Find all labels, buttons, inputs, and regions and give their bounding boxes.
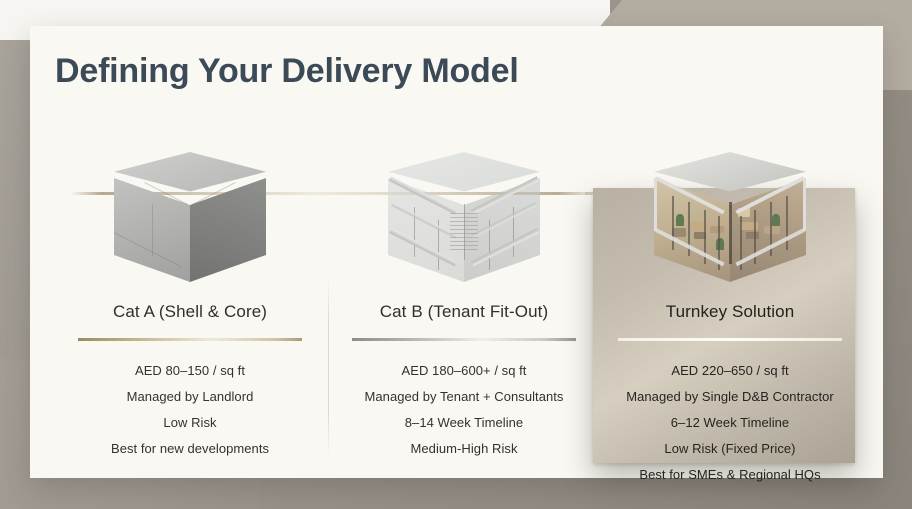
slide-panel: Defining Your Delivery Model: [30, 26, 883, 478]
furnished-office-cube-icon: [654, 152, 806, 282]
bullet-item: 6–12 Week Timeline: [596, 410, 864, 436]
bullet-item: Low Risk (Fixed Price): [596, 436, 864, 462]
column-divider: [352, 338, 576, 341]
bullet-item: Best for SMEs & Regional HQs: [596, 462, 864, 488]
bullet-item: Managed by Landlord: [56, 384, 324, 410]
column-divider: [78, 338, 302, 341]
bullet-item: AED 80–150 / sq ft: [56, 358, 324, 384]
figure-cat-b: [330, 152, 598, 282]
bullet-item: Medium-High Risk: [330, 436, 598, 462]
column-heading: Cat A (Shell & Core): [56, 302, 324, 322]
column-divider: [618, 338, 842, 341]
columns-container: Cat A (Shell & Core) AED 80–150 / sq ft …: [30, 26, 883, 478]
bullet-item: AED 220–650 / sq ft: [596, 358, 864, 384]
column-bullets: AED 220–650 / sq ft Managed by Single D&…: [596, 358, 864, 488]
bullet-item: Managed by Single D&B Contractor: [596, 384, 864, 410]
bullet-item: Managed by Tenant + Consultants: [330, 384, 598, 410]
bullet-item: Best for new developments: [56, 436, 324, 462]
bullet-item: AED 180–600+ / sq ft: [330, 358, 598, 384]
column-heading: Turnkey Solution: [596, 302, 864, 322]
slide-canvas: Defining Your Delivery Model: [0, 0, 912, 509]
column-separator-1: [328, 278, 329, 456]
glass-frame-cube-icon: [388, 152, 540, 282]
figure-cat-a: [56, 152, 324, 282]
column-heading: Cat B (Tenant Fit-Out): [330, 302, 598, 322]
figure-turnkey: [596, 152, 864, 282]
concrete-cube-icon: [114, 152, 266, 282]
column-bullets: AED 80–150 / sq ft Managed by Landlord L…: [56, 358, 324, 462]
bullet-item: 8–14 Week Timeline: [330, 410, 598, 436]
column-bullets: AED 180–600+ / sq ft Managed by Tenant +…: [330, 358, 598, 462]
bullet-item: Low Risk: [56, 410, 324, 436]
